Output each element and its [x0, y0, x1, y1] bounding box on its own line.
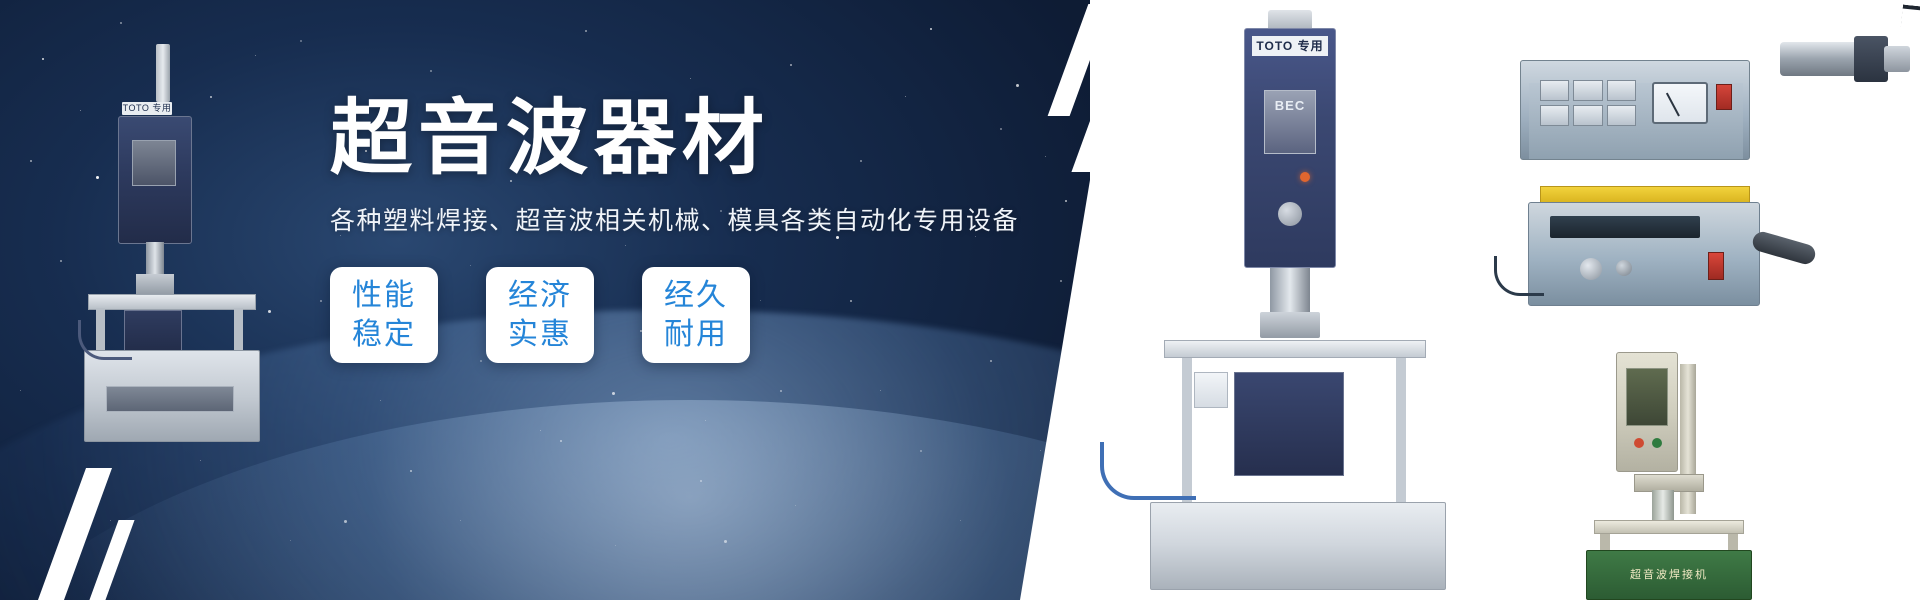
badge-line-1: 性能 [352, 276, 416, 316]
machine-ram-shaft [146, 242, 164, 278]
product-standing-welder: 超音波焊接机 [1560, 352, 1780, 600]
feature-badge-durability[interactable]: 经久 耐用 [642, 267, 750, 363]
generator-power-switch [1716, 84, 1732, 110]
feature-badge-group: 性能 稳定 经济 实惠 经久 耐用 [330, 267, 1030, 363]
machine-leg [234, 308, 243, 356]
badge-line-1: 经济 [508, 276, 572, 316]
machine-control-panel [132, 140, 176, 186]
bench-handpiece [1750, 230, 1817, 267]
bench-power-switch [1708, 252, 1724, 280]
generator-button [1607, 80, 1636, 101]
standing-base-label: 超音波焊接机 [1586, 566, 1752, 582]
welder-indicator-led [1300, 172, 1310, 182]
welder-cable [1100, 442, 1196, 500]
product-bench-welder [1520, 186, 1820, 336]
page-subtitle: 各种塑料焊接、超音波相关机械、模具各类自动化专用设备 [330, 205, 1030, 238]
machine-drawer [106, 386, 234, 412]
welder-horn [1260, 312, 1320, 338]
welder-brand-label: TOTO 专用 [1252, 36, 1328, 56]
machine-column [156, 44, 170, 102]
promo-banner: TOTO 专用 超音波器材 各种塑料焊接、超音波相关机械、模具各类自动化专用设备… [0, 0, 1920, 600]
welder-ram [1270, 268, 1310, 314]
decorative-slash-icon [38, 468, 112, 600]
welder-frame-leg [1396, 358, 1406, 508]
generator-button [1573, 105, 1602, 126]
generator-button-grid [1540, 80, 1636, 126]
product-ultrasonic-welder: TOTO 专用 BEC [1148, 6, 1448, 592]
standing-indicator-green-icon [1652, 438, 1662, 448]
feature-badge-economy[interactable]: 经济 实惠 [486, 267, 594, 363]
badge-line-2: 稳定 [352, 315, 416, 355]
decorative-slash-icon [89, 520, 134, 600]
generator-button [1540, 105, 1569, 126]
welder-side-window [1194, 372, 1228, 408]
feature-badge-performance[interactable]: 性能 稳定 [330, 267, 438, 363]
bench-knob-small [1616, 260, 1632, 276]
generator-button [1540, 80, 1569, 101]
starfield-large-icon [0, 0, 3, 3]
bench-knob [1580, 258, 1602, 280]
standing-ram [1652, 490, 1674, 520]
welder-worktable [1164, 340, 1426, 358]
machine-brand-label: TOTO 专用 [122, 102, 172, 115]
badge-line-2: 实惠 [508, 315, 572, 355]
page-title: 超音波器材 [330, 96, 1030, 183]
starfield-tiny-icon [0, 0, 1, 1]
bench-slot [1550, 216, 1700, 238]
generator-analog-meter [1652, 82, 1708, 124]
badge-line-1: 经久 [664, 276, 728, 316]
welder-display-text: BEC [1264, 98, 1316, 113]
generator-button [1573, 80, 1602, 101]
generator-button [1607, 105, 1636, 126]
standing-worktable [1594, 520, 1744, 534]
product-ultrasonic-generator [1520, 48, 1770, 168]
transducer-barrel [1780, 42, 1858, 76]
starfield-small-icon [0, 0, 2, 2]
welder-fixture-block [1234, 372, 1344, 476]
transducer-housing [1854, 36, 1888, 82]
product-transducer [1780, 14, 1920, 124]
machine-worktable [88, 294, 256, 310]
left-machine-photo: TOTO 专用 [78, 20, 268, 440]
machine-fixture-box [124, 310, 182, 354]
right-product-panel: TOTO 专用 BEC [1090, 0, 1920, 600]
standing-control-face [1626, 368, 1668, 426]
transducer-tip [1884, 46, 1910, 72]
standing-indicator-red-icon [1634, 438, 1644, 448]
badge-line-2: 耐用 [664, 315, 728, 355]
welder-knob [1278, 202, 1302, 226]
hero-text-block: 超音波器材 各种塑料焊接、超音波相关机械、模具各类自动化专用设备 性能 稳定 经… [330, 96, 1030, 363]
machine-horn [136, 274, 174, 296]
bench-cable [1494, 256, 1544, 296]
welder-base-cabinet [1150, 502, 1446, 590]
